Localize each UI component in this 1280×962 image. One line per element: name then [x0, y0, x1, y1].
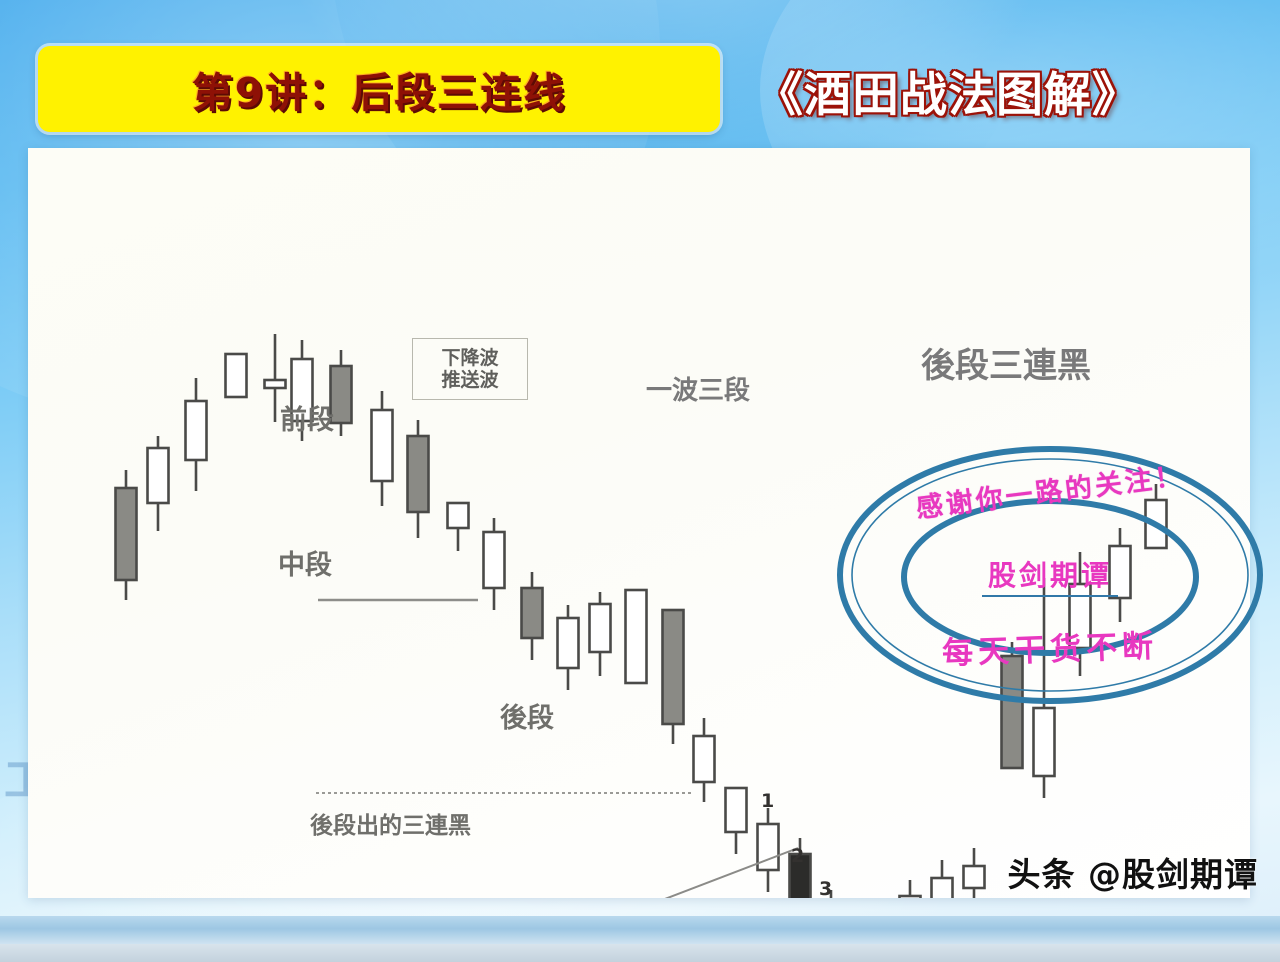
candle-body — [663, 610, 684, 724]
candle-body — [116, 488, 137, 580]
candle-body — [1034, 708, 1055, 776]
candle-body — [522, 588, 543, 638]
marker-2: 2 — [791, 845, 804, 867]
candle-body — [448, 503, 469, 528]
marker-1: 1 — [761, 790, 774, 812]
candle-body — [558, 618, 579, 668]
candle-body — [372, 410, 393, 481]
wave-label: 一波三段 — [646, 370, 750, 407]
candle-body — [186, 401, 207, 460]
candle-body — [226, 354, 247, 397]
channel-watermark: 头条 @股剑期谭 — [1008, 848, 1259, 896]
box-line-2: 推送波 — [441, 369, 498, 391]
candle-body — [900, 896, 921, 898]
candle-body — [1070, 584, 1091, 648]
descending-wave-box: 下降波 推送波 — [412, 338, 528, 400]
candle-body — [626, 590, 647, 683]
candle-body — [1110, 546, 1131, 598]
middle-segment-label: 中段 — [278, 543, 332, 582]
lesson-title-plate: 第9讲：后段三连线 — [38, 46, 720, 132]
candle-body — [932, 878, 953, 898]
candle-body — [726, 788, 747, 832]
candle-body — [408, 436, 429, 512]
marker-3: 3 — [819, 878, 832, 900]
callout-label: 後段出的三連黑 — [310, 806, 471, 840]
back-segment-label: 後段 — [500, 696, 554, 735]
pattern-title: 後段三連黑 — [921, 338, 1091, 387]
candle-body — [1002, 656, 1023, 768]
front-segment-label: 前段 — [280, 398, 334, 437]
candlestick-chart — [28, 148, 1250, 898]
candle-body — [265, 380, 286, 388]
header: 第9讲：后段三连线 《酒田战法图解》 — [0, 0, 1280, 148]
candle-body — [590, 604, 611, 652]
box-line-1: 下降波 — [441, 347, 498, 369]
chart-panel: 下降波 推送波 一波三段 後段三連黑 前段 中段 後段 後段出的三連黑 1 2 … — [28, 148, 1250, 898]
candle-body — [964, 866, 985, 888]
slide-root: 第9讲：后段三连线 《酒田战法图解》 工 下降波 推送波 一波三段 後段三連黑 … — [0, 0, 1280, 962]
book-title: 《酒田战法图解》 — [756, 48, 1256, 132]
candle-body — [694, 736, 715, 782]
candle-body — [148, 448, 169, 503]
bg-bottom-band — [0, 916, 1280, 944]
lesson-title: 第9讲：后段三连线 — [192, 59, 567, 119]
candle-body — [484, 532, 505, 588]
bg-bottom-bar — [0, 944, 1280, 962]
candle-body — [1146, 500, 1167, 548]
